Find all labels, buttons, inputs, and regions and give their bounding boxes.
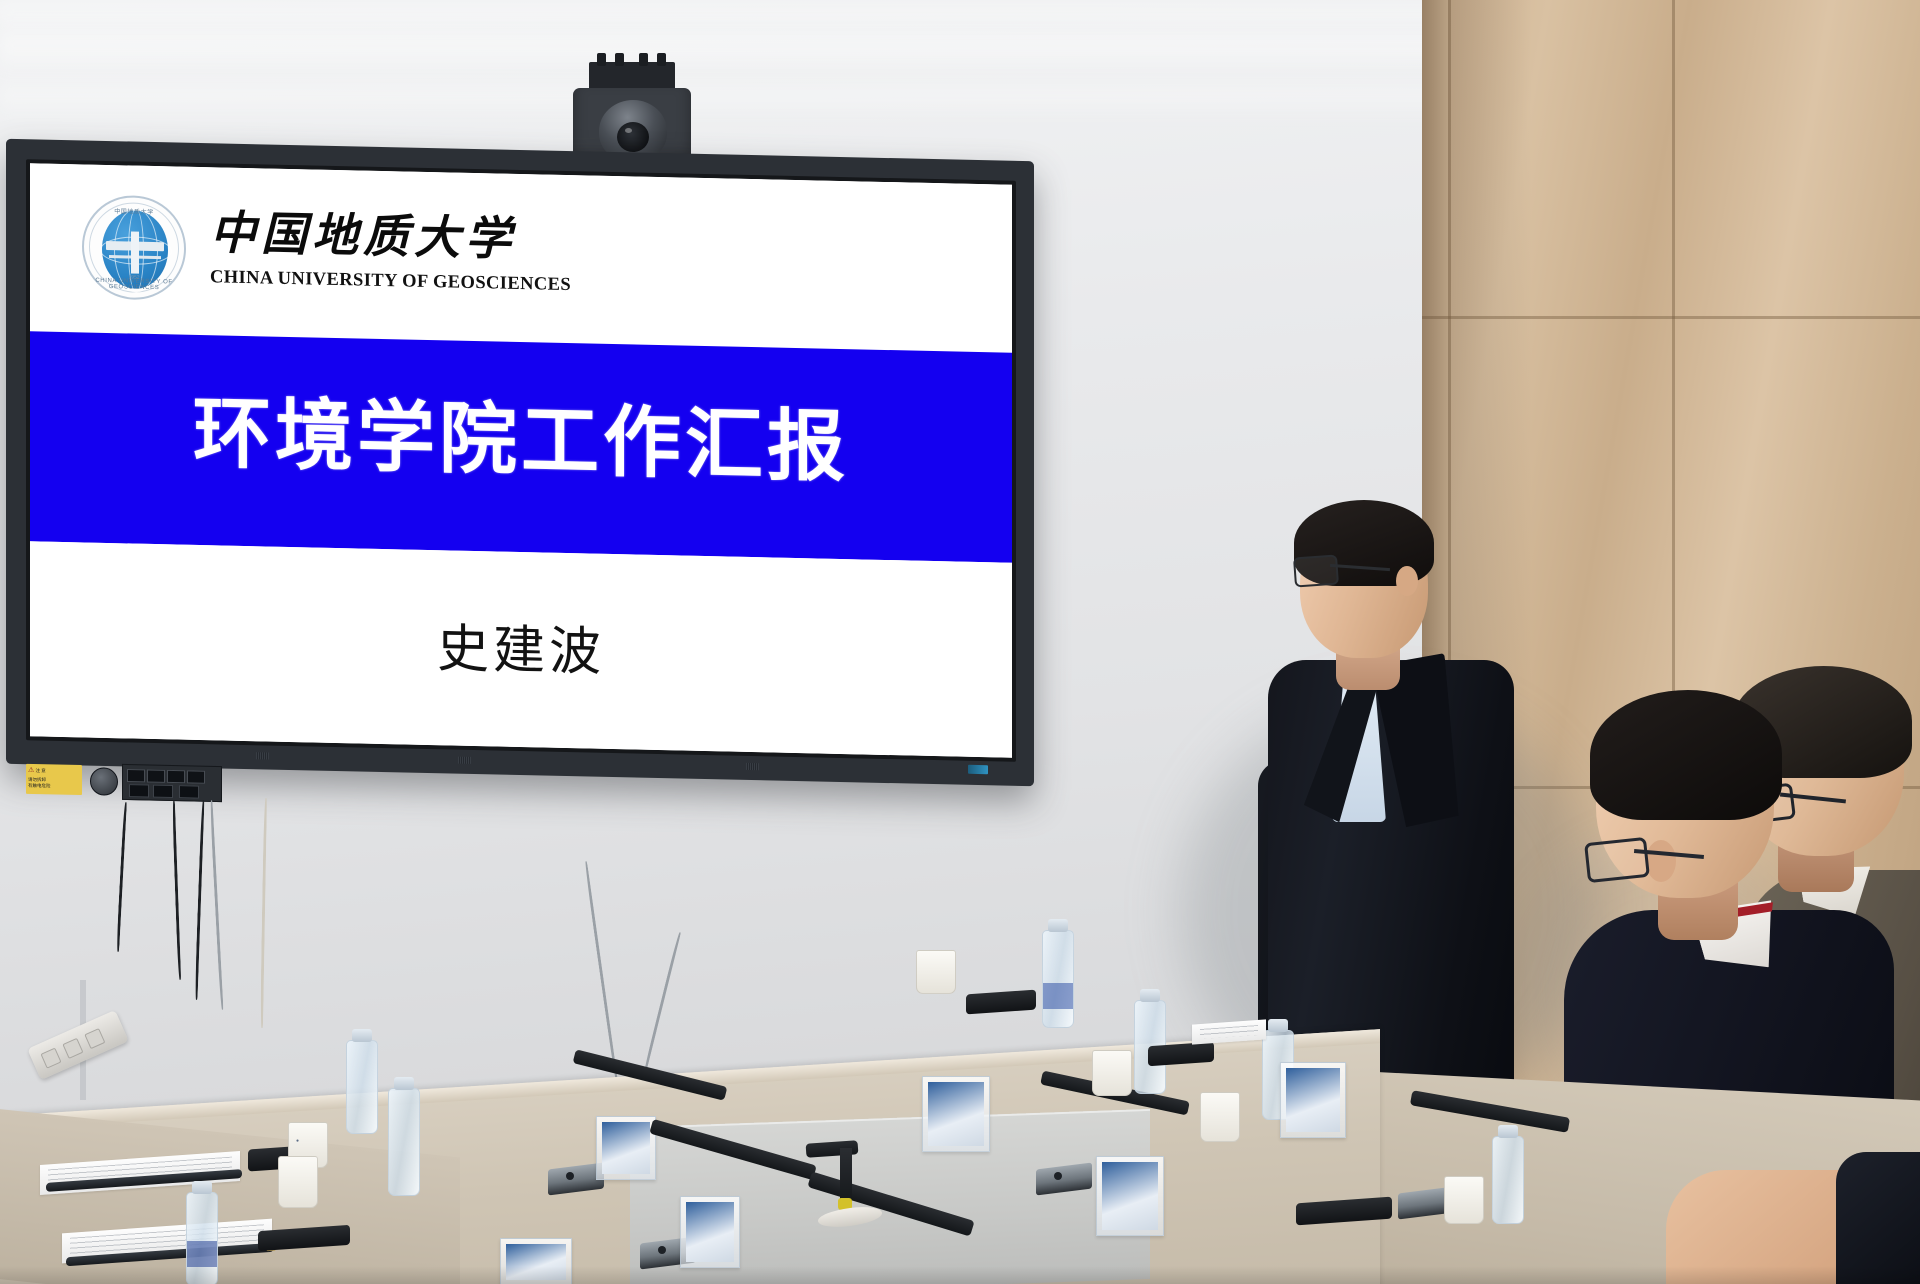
hdmi-port[interactable] [127, 769, 145, 782]
nameplate-holder [1280, 1062, 1346, 1138]
floor-shadow [0, 1266, 1920, 1284]
conference-room-scene: 中国地质大学 CHINA UNIVERSITY OF GEOSCIENCES 1… [0, 0, 1920, 1284]
slide-header: 中国地质大学 CHINA UNIVERSITY OF GEOSCIENCES 1… [30, 163, 1012, 352]
camera-mount-post [615, 53, 624, 66]
display-port-block[interactable] [122, 764, 222, 802]
bottle-cap [352, 1029, 372, 1042]
display-speaker-grille [458, 757, 471, 764]
camera-mount-post [639, 53, 648, 66]
camera-lens-glint [625, 128, 632, 133]
paper-cup [1444, 1176, 1484, 1224]
display-speaker-grille [746, 763, 759, 770]
slide-title: 环境学院工作汇报 [30, 367, 1012, 500]
interactive-display[interactable]: 中国地质大学 CHINA UNIVERSITY OF GEOSCIENCES 1… [6, 139, 1034, 786]
nameplate-holder [680, 1196, 740, 1268]
bottle-cap [1048, 919, 1068, 932]
paper-cup [916, 950, 956, 994]
water-bottle [1492, 1136, 1524, 1224]
nameplate-card [686, 1202, 734, 1262]
presenter-glasses-icon [1293, 555, 1339, 588]
warning-line-1: 注 意 [36, 768, 46, 773]
nameplate-holder [1096, 1156, 1164, 1236]
hdmi-port[interactable] [147, 769, 165, 782]
university-emblem-icon: 中国地质大学 CHINA UNIVERSITY OF GEOSCIENCES 1… [82, 194, 186, 300]
cup-logo: ● [296, 1138, 300, 1144]
attendee-front-hair [1590, 690, 1782, 820]
warning-line-2: 请勿拆卸 [28, 776, 46, 781]
water-bottle [346, 1040, 378, 1134]
university-name-block: 中国地质大学 CHINA UNIVERSITY OF GEOSCIENCES [210, 210, 571, 296]
nameplate-card [1286, 1068, 1340, 1132]
ptz-conference-camera [573, 62, 691, 162]
warning-triangle-icon: ⚠ [28, 767, 34, 774]
water-bottle [388, 1088, 420, 1196]
bottle-label [187, 1241, 217, 1267]
nameplate-holder [596, 1116, 656, 1180]
power-socket[interactable] [84, 1028, 105, 1049]
attendee-sleeve [1836, 1152, 1920, 1284]
nameplate-card [1102, 1162, 1158, 1230]
bottle-cap [394, 1077, 414, 1090]
presenter-ear [1396, 566, 1418, 596]
microphone-mute-led[interactable] [658, 1246, 666, 1254]
bottle-label [1043, 983, 1073, 1009]
document-text-lines [1200, 1025, 1258, 1039]
camera-mount-post [597, 53, 606, 66]
slide-presenter-name: 史建波 [30, 597, 1012, 693]
attendee-front-ear [1646, 840, 1676, 882]
bottle-cap [1268, 1019, 1288, 1032]
bottle-cap [1498, 1125, 1518, 1138]
ethernet-port[interactable] [129, 784, 149, 797]
nameplate-card [928, 1082, 984, 1146]
microphone-mute-led[interactable] [1054, 1172, 1062, 1180]
microphone-mute-led[interactable] [566, 1172, 574, 1180]
bottle-cap [192, 1181, 212, 1194]
usb-port[interactable] [187, 770, 205, 783]
presentation-slide: 中国地质大学 CHINA UNIVERSITY OF GEOSCIENCES 1… [30, 163, 1012, 757]
emblem-top-text: 中国地质大学 [84, 205, 184, 216]
power-socket[interactable] [40, 1048, 61, 1069]
nameplate-holder [922, 1076, 990, 1152]
display-warning-label: ⚠ 注 意 请勿拆卸 有触电危险 [26, 764, 82, 795]
university-name-cn: 中国地质大学 [210, 210, 571, 264]
usb-port[interactable] [167, 770, 185, 783]
university-logo-lockup: 中国地质大学 CHINA UNIVERSITY OF GEOSCIENCES 1… [82, 194, 571, 309]
nameplate-card [602, 1122, 650, 1174]
display-screen[interactable]: 中国地质大学 CHINA UNIVERSITY OF GEOSCIENCES 1… [30, 163, 1012, 757]
display-ir-receiver [256, 752, 269, 759]
paper-cup [1200, 1092, 1240, 1142]
vga-port[interactable] [153, 785, 173, 798]
paper-cup [278, 1156, 318, 1208]
camera-lens-icon [617, 122, 649, 152]
emblem-hammer-stem [131, 232, 139, 274]
paper-cup [1092, 1050, 1132, 1096]
warning-line-3: 有触电危险 [28, 783, 51, 788]
bottle-cap [1140, 989, 1160, 1002]
display-connector-panel[interactable]: ⚠ 注 意 请勿拆卸 有触电危险 [26, 758, 226, 804]
slide-title-banner: 环境学院工作汇报 [30, 331, 1012, 562]
display-power-led [968, 765, 988, 774]
camera-mount-post [657, 53, 666, 66]
power-socket[interactable] [62, 1038, 83, 1059]
display-power-knob[interactable] [90, 767, 118, 796]
slide-footer: 史建波 [30, 541, 1012, 757]
water-bottle [1042, 930, 1074, 1028]
university-name-en: CHINA UNIVERSITY OF GEOSCIENCES [210, 267, 571, 296]
audio-port[interactable] [179, 785, 199, 798]
attendee-front-glasses-icon [1584, 837, 1650, 883]
